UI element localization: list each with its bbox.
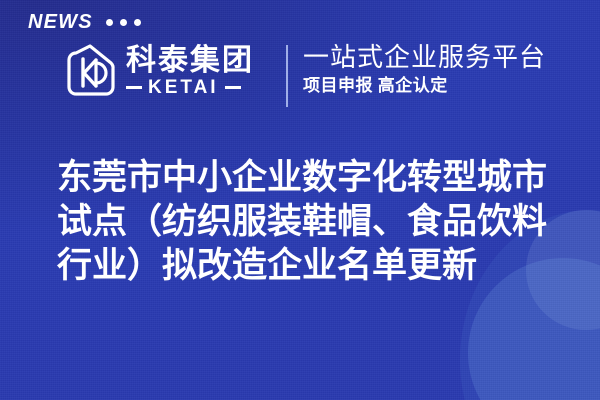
brand-name-en-row: KETAI [126,78,254,97]
tagline-main: 一站式企业服务平台 [303,43,546,72]
news-dots [106,19,141,26]
brand-name-cn: 科泰集团 [126,45,254,77]
page-title: 东莞市中小企业数字化转型城市试点（纺织服装鞋帽、食品饮料行业）拟改造企业名单更新 [57,156,567,288]
dot-icon [106,19,113,26]
news-poster: NEWS 科泰集团 KETAI [0,0,600,400]
brand-lockup: 科泰集团 KETAI [63,42,254,100]
tagline-sub: 项目申报 高企认定 [303,76,546,96]
brand-rule-right [225,86,241,89]
ketai-diamond-monogram-icon [63,42,117,100]
dot-icon [120,19,127,26]
news-banner: NEWS [28,12,141,32]
news-label: NEWS [28,12,93,32]
brand-rule-left [126,86,142,89]
header-divider [286,45,288,107]
brand-text: 科泰集团 KETAI [126,45,254,98]
brand-name-en: KETAI [148,78,219,97]
dot-icon [134,19,141,26]
tagline-block: 一站式企业服务平台 项目申报 高企认定 [303,43,546,96]
